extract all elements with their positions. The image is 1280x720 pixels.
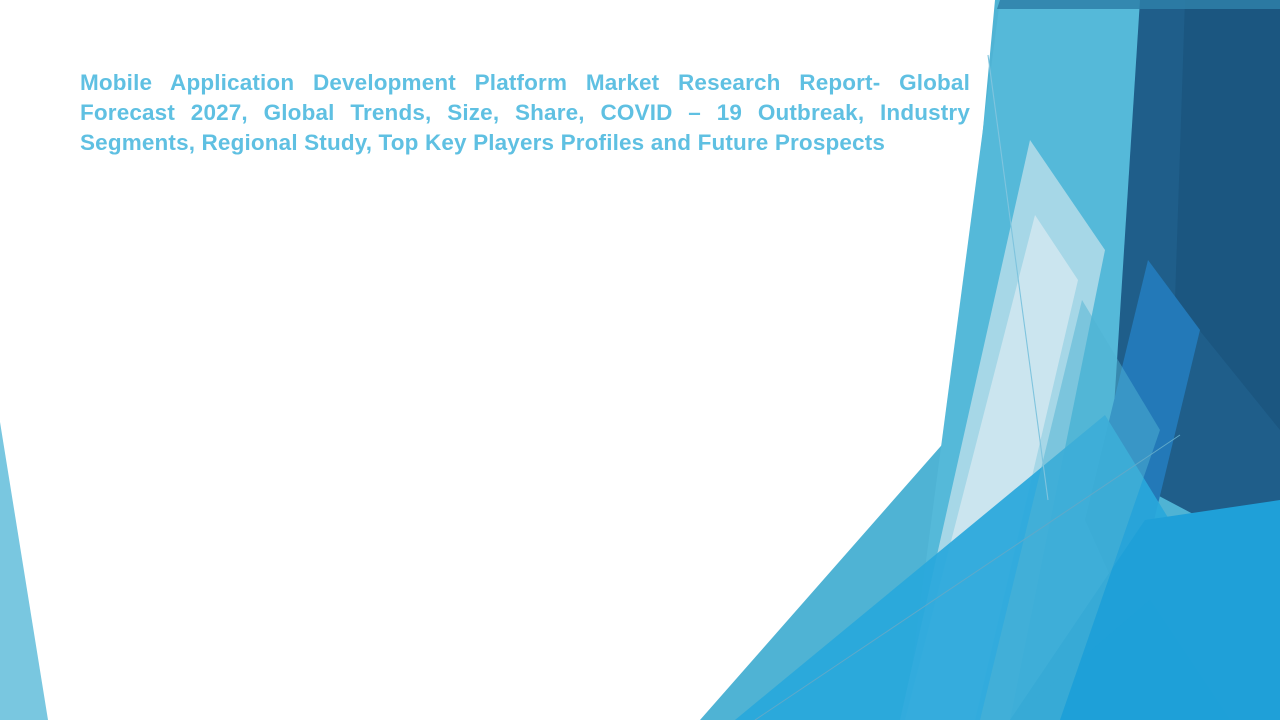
shape-bright-blue-bottom-right bbox=[1010, 500, 1280, 720]
shape-mid-facet-overlap bbox=[980, 300, 1160, 720]
presentation-slide: Mobile Application Development Platform … bbox=[0, 0, 1280, 720]
shape-bright-blue-lower-mid bbox=[1010, 600, 1230, 720]
shape-deep-navy-sliver bbox=[1175, 0, 1280, 430]
shape-cyan-bottom-triangle bbox=[735, 415, 1280, 720]
shape-corner-wedge-bottom-left bbox=[0, 422, 48, 720]
shape-pale-blue-wedge bbox=[900, 140, 1105, 720]
shape-top-edge-strip bbox=[997, 0, 1280, 9]
shape-navy-top-right bbox=[1110, 0, 1280, 560]
page-title: Mobile Application Development Platform … bbox=[80, 68, 970, 159]
hairline-vertical bbox=[988, 55, 1048, 500]
shape-very-pale-wedge bbox=[905, 215, 1078, 720]
shape-royal-blue-band bbox=[1085, 260, 1200, 620]
hairline-diagonal bbox=[755, 435, 1180, 720]
title-block: Mobile Application Development Platform … bbox=[80, 68, 970, 159]
